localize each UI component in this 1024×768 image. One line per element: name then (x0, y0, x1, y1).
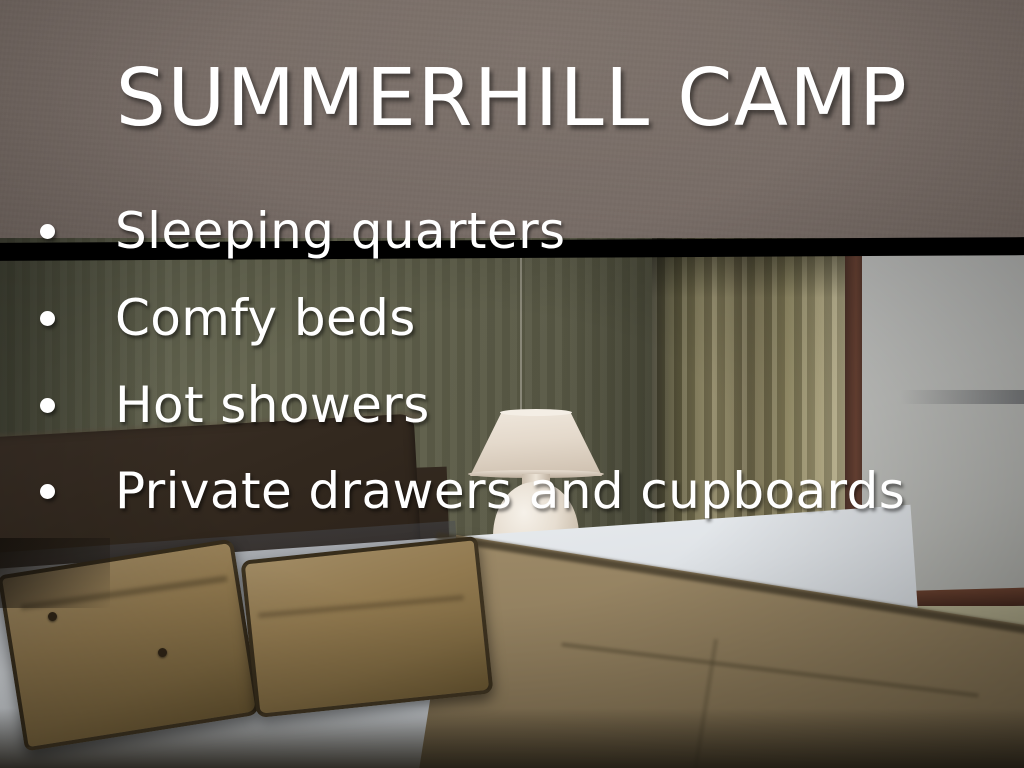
bullet-item-comfy-beds: Comfy beds (40, 293, 416, 343)
bullet-item-sleeping-quarters: Sleeping quarters (40, 206, 566, 256)
bullet-dot-icon (40, 484, 55, 499)
bullet-item-hot-showers: Hot showers (40, 380, 430, 430)
bullet-dot-icon (40, 398, 55, 413)
cushion-right (240, 536, 493, 718)
bullet-dot-icon (40, 224, 55, 239)
bullet-label: Private drawers and cupboards (115, 466, 905, 516)
window-streak (900, 390, 1024, 404)
photo-left-corner-shadow (0, 538, 110, 608)
slide-title: SUMMERHILL CAMP (0, 52, 1024, 144)
cushion-stud-left-2 (158, 648, 167, 657)
bullet-label: Sleeping quarters (115, 206, 566, 256)
presentation-slide: SUMMERHILL CAMP Sleeping quarters Comfy … (0, 0, 1024, 768)
lamp-cord (520, 238, 522, 414)
bullet-item-private-drawers: Private drawers and cupboards (40, 466, 905, 516)
lamp-shade-top (500, 409, 572, 416)
bullet-label: Comfy beds (115, 293, 416, 343)
bullet-label: Hot showers (115, 380, 430, 430)
bullet-dot-icon (40, 311, 55, 326)
cushion-stud-left (48, 612, 57, 621)
